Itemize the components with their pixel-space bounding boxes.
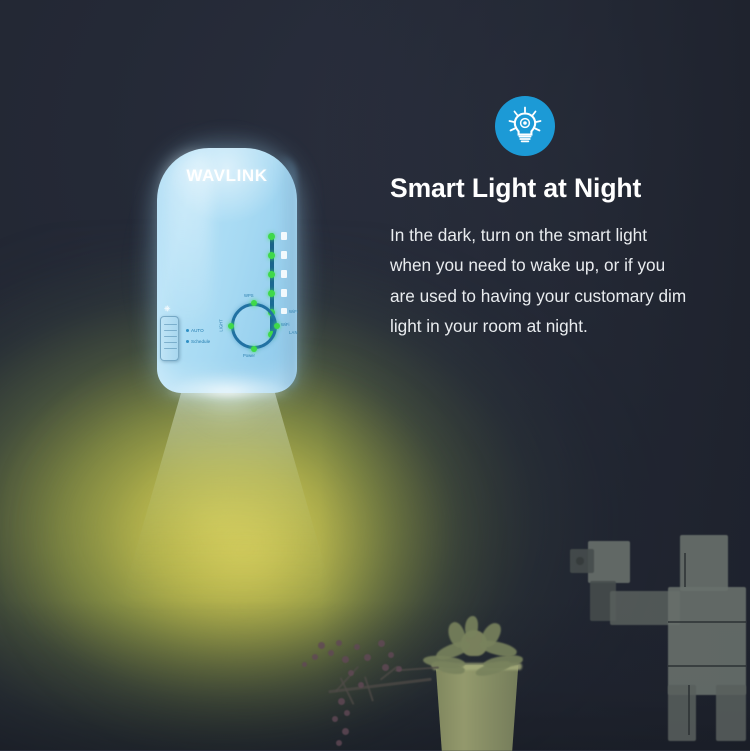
- lightbulb-badge: [495, 96, 555, 156]
- dial-led-light: [228, 323, 234, 329]
- strip-label-wifi: WiFi: [289, 309, 298, 314]
- strip-dash: [281, 232, 287, 240]
- slider-grip: [164, 348, 177, 349]
- strip-dash: [281, 289, 287, 297]
- lightbulb-icon: [505, 106, 545, 146]
- strip-dash: [281, 251, 287, 259]
- blossom: [382, 664, 389, 671]
- blossom: [318, 642, 325, 649]
- plant-pot: [433, 665, 521, 751]
- dial-led-wps: [251, 300, 257, 306]
- blossom: [302, 662, 307, 667]
- dial-label-light: LIGHT: [219, 319, 224, 331]
- strip-label-lan: LAN: [289, 330, 298, 335]
- mode-dot-icon: [186, 340, 189, 343]
- strip-dash: [281, 270, 287, 278]
- blossom-branch: [292, 628, 432, 750]
- slider-grip: [164, 324, 177, 325]
- block-seam: [668, 665, 746, 667]
- blossom: [336, 640, 342, 646]
- blossom: [358, 682, 364, 688]
- mode-schedule: Schedule: [186, 339, 210, 344]
- block-seam: [684, 553, 686, 587]
- mode-auto: AUTO: [186, 328, 204, 333]
- blossom: [336, 740, 342, 746]
- blossom: [344, 710, 350, 716]
- feature-text-panel: Smart Light at Night In the dark, turn o…: [390, 96, 700, 341]
- blossom: [388, 652, 394, 658]
- device-light-emitter: [163, 370, 291, 396]
- block-eye: [576, 557, 584, 565]
- block-tail: [680, 535, 728, 591]
- block-torso: [668, 587, 746, 695]
- blossom: [378, 640, 385, 647]
- dial-label-wps: WPS: [244, 293, 254, 298]
- blossom: [342, 728, 349, 735]
- strip-dash: [281, 308, 287, 314]
- mode-slider-switch[interactable]: [160, 316, 179, 361]
- led-indicator: [268, 271, 275, 278]
- blossom: [348, 670, 354, 676]
- dial-label-wifi: WiFi: [281, 322, 289, 327]
- led-indicator: [268, 252, 275, 259]
- blossom: [396, 666, 402, 672]
- feature-description: In the dark, turn on the smart light whe…: [390, 220, 690, 341]
- mode-dot-icon: [186, 329, 189, 332]
- block-leg-back: [716, 685, 746, 741]
- mode-auto-label: AUTO: [191, 328, 204, 333]
- dial-led-power: [251, 346, 257, 352]
- blossom: [354, 644, 360, 650]
- mode-schedule-label: Schedule: [191, 339, 210, 344]
- wooden-block-figure: [570, 525, 750, 750]
- blossom: [332, 716, 338, 722]
- block-seam: [668, 621, 746, 623]
- blossom: [312, 654, 318, 660]
- block-leg-front: [668, 685, 696, 741]
- slider-grip: [164, 330, 177, 331]
- slider-grip: [164, 336, 177, 337]
- blossom: [342, 656, 349, 663]
- led-indicator: [268, 290, 275, 297]
- dial-led-wifi: [274, 323, 280, 329]
- blossom: [328, 650, 334, 656]
- branch-fork: [364, 676, 374, 701]
- device-right-edge-shade: [277, 154, 297, 389]
- block-head: [588, 541, 630, 583]
- dial-label-power: Power: [243, 353, 255, 358]
- blossom: [338, 698, 345, 705]
- power-icon: ⎈: [164, 305, 170, 313]
- page-title: Smart Light at Night: [390, 174, 700, 203]
- block-seam: [688, 685, 690, 735]
- dial-ring: [231, 303, 277, 349]
- led-indicator: [268, 233, 275, 240]
- wavlink-logo: WAVLINK: [157, 166, 297, 186]
- slider-grip: [164, 342, 177, 343]
- wavlink-wifi-extender-device: WAVLINK WiFi LAN WPS LIGHT WiFi Power ⎈: [157, 148, 297, 393]
- control-dial[interactable]: WPS LIGHT WiFi Power: [231, 303, 277, 349]
- blossom: [364, 654, 371, 661]
